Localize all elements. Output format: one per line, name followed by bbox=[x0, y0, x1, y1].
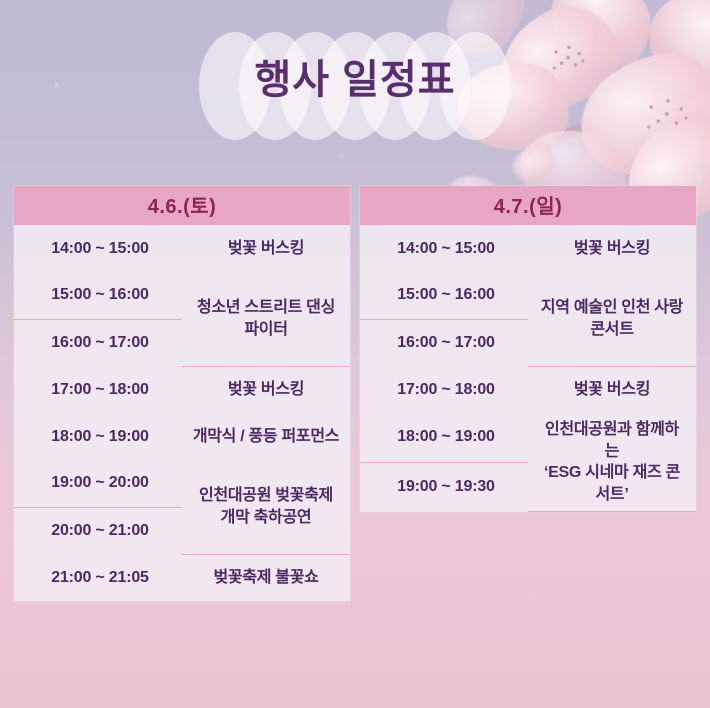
program-line-2: ‘ESG 시네마 재즈 콘서트’ bbox=[538, 462, 686, 505]
page-title: 행사 일정표 bbox=[0, 56, 710, 104]
program-cell: 인천대공원 벚꽃축제 개막 축하공연 bbox=[182, 460, 350, 554]
program-cell: 벚꽃 버스킹 bbox=[182, 225, 350, 272]
table-row: 21:00 ~ 21:05 벚꽃축제 불꽃쇼 bbox=[14, 554, 350, 601]
time-cell: 14:00 ~ 15:00 bbox=[14, 225, 182, 272]
time-cell: 18:00 ~ 19:00 bbox=[14, 413, 182, 460]
table-header-row: 4.7.(일) bbox=[360, 186, 696, 225]
table-row: 18:00 ~ 19:00 인천대공원과 함께하는 ‘ESG 시네마 재즈 콘서… bbox=[360, 413, 696, 462]
program-cell: 벚꽃 버스킹 bbox=[182, 366, 350, 413]
table-row: 19:00 ~ 20:00 인천대공원 벚꽃축제 개막 축하공연 bbox=[14, 460, 350, 507]
time-cell: 16:00 ~ 17:00 bbox=[360, 319, 528, 366]
program-cell: 벚꽃 버스킹 bbox=[528, 225, 696, 272]
title-area: 행사 일정표 bbox=[0, 30, 710, 150]
time-cell: 20:00 ~ 21:00 bbox=[14, 507, 182, 554]
program-line-1: 인천대공원 벚꽃축제 bbox=[199, 487, 333, 504]
schedule-table-sunday: 4.7.(일) 14:00 ~ 15:00 벚꽃 버스킹 15:00 ~ 16:… bbox=[360, 186, 696, 512]
table-row: 15:00 ~ 16:00 청소년 스트리트 댄싱 파이터 bbox=[14, 272, 350, 319]
schedule-tables: 4.6.(토) 14:00 ~ 15:00 벚꽃 버스킹 15:00 ~ 16:… bbox=[14, 186, 696, 601]
time-cell: 14:00 ~ 15:00 bbox=[360, 225, 528, 272]
day-header-saturday: 4.6.(토) bbox=[14, 186, 350, 225]
table-body-saturday: 14:00 ~ 15:00 벚꽃 버스킹 15:00 ~ 16:00 청소년 스… bbox=[14, 225, 350, 601]
time-cell: 17:00 ~ 18:00 bbox=[14, 366, 182, 413]
program-cell: 지역 예술인 인천 사랑 콘서트 bbox=[528, 272, 696, 366]
time-cell: 17:00 ~ 18:00 bbox=[360, 366, 528, 413]
program-cell: 인천대공원과 함께하는 ‘ESG 시네마 재즈 콘서트’ bbox=[528, 413, 696, 512]
table-row: 14:00 ~ 15:00 벚꽃 버스킹 bbox=[14, 225, 350, 272]
table-row: 14:00 ~ 15:00 벚꽃 버스킹 bbox=[360, 225, 696, 272]
time-cell: 16:00 ~ 17:00 bbox=[14, 319, 182, 366]
table-row: 17:00 ~ 18:00 벚꽃 버스킹 bbox=[360, 366, 696, 413]
program-line-1: 인천대공원과 함께하는 bbox=[545, 421, 679, 460]
day-header-sunday: 4.7.(일) bbox=[360, 186, 696, 225]
table-row: 17:00 ~ 18:00 벚꽃 버스킹 bbox=[14, 366, 350, 413]
table-row: 15:00 ~ 16:00 지역 예술인 인천 사랑 콘서트 bbox=[360, 272, 696, 319]
time-cell: 18:00 ~ 19:00 bbox=[360, 413, 528, 462]
time-cell: 15:00 ~ 16:00 bbox=[360, 272, 528, 319]
program-line-2: 개막 축하공연 bbox=[192, 507, 340, 529]
time-cell: 19:00 ~ 19:30 bbox=[360, 462, 528, 511]
table-header-row: 4.6.(토) bbox=[14, 186, 350, 225]
program-cell: 벚꽃축제 불꽃쇼 bbox=[182, 554, 350, 601]
time-cell: 21:00 ~ 21:05 bbox=[14, 554, 182, 601]
table-body-sunday: 14:00 ~ 15:00 벚꽃 버스킹 15:00 ~ 16:00 지역 예술… bbox=[360, 225, 696, 512]
schedule-table-saturday: 4.6.(토) 14:00 ~ 15:00 벚꽃 버스킹 15:00 ~ 16:… bbox=[14, 186, 350, 601]
time-cell: 19:00 ~ 20:00 bbox=[14, 460, 182, 507]
time-cell: 15:00 ~ 16:00 bbox=[14, 272, 182, 319]
program-cell: 벚꽃 버스킹 bbox=[528, 366, 696, 413]
table-row: 18:00 ~ 19:00 개막식 / 풍등 퍼포먼스 bbox=[14, 413, 350, 460]
program-cell: 개막식 / 풍등 퍼포먼스 bbox=[182, 413, 350, 460]
program-cell: 청소년 스트리트 댄싱 파이터 bbox=[182, 272, 350, 366]
poster-canvas: 행사 일정표 4.6.(토) 14:00 ~ 15:00 벚꽃 버스킹 15:0… bbox=[0, 0, 710, 708]
